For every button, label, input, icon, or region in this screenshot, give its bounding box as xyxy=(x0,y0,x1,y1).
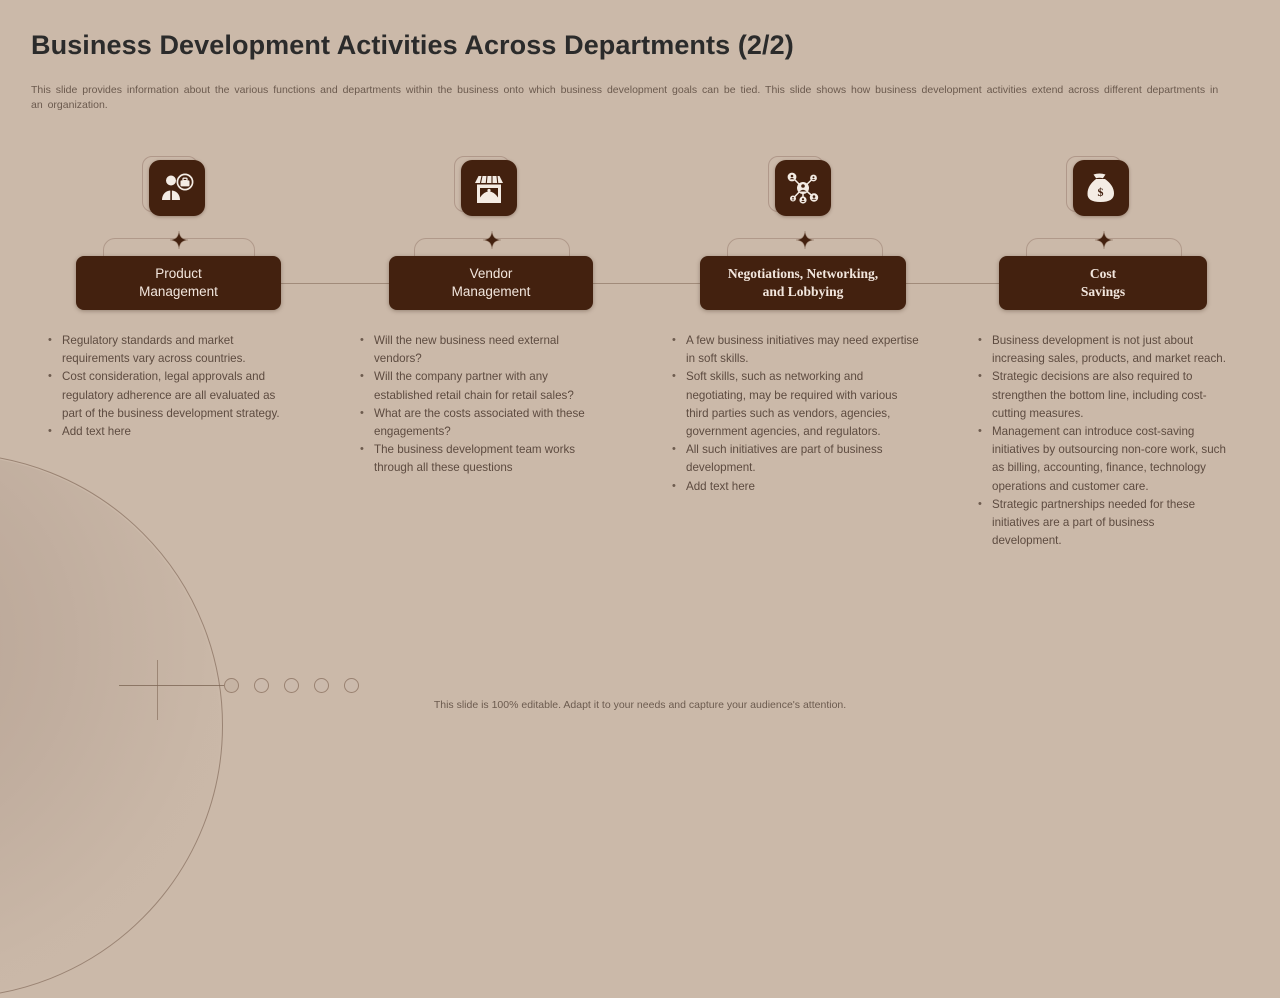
bullet-item: Regulatory standards and market requirem… xyxy=(46,332,286,368)
pagination-leader-line xyxy=(119,685,224,686)
page-subtitle: This slide provides information about th… xyxy=(31,83,1226,113)
diamond-marker-0 xyxy=(170,231,188,249)
department-title-line1-1: Vendor xyxy=(452,265,531,283)
department-title-2[interactable]: Negotiations, Networking,and Lobbying xyxy=(700,256,906,310)
department-title-line2-0: Management xyxy=(139,283,218,301)
department-icon-3[interactable]: $ xyxy=(1073,160,1129,216)
department-title-1[interactable]: VendorManagement xyxy=(389,256,593,310)
department-icon-0[interactable] xyxy=(149,160,205,216)
department-title-line1-0: Product xyxy=(139,265,218,283)
bullet-item: The business development team works thro… xyxy=(358,441,598,477)
page-title: Business Development Activities Across D… xyxy=(31,30,794,61)
corner-arc-vertical-line xyxy=(157,660,158,720)
department-icon-2[interactable] xyxy=(775,160,831,216)
department-title-0[interactable]: ProductManagement xyxy=(76,256,281,310)
department-title-3[interactable]: CostSavings xyxy=(999,256,1207,310)
bullet-item: Strategic decisions are also required to… xyxy=(976,368,1226,423)
department-bullets-2: A few business initiatives may need expe… xyxy=(670,332,920,496)
bullet-item: A few business initiatives may need expe… xyxy=(670,332,920,368)
bullet-item: What are the costs associated with these… xyxy=(358,405,598,441)
department-title-line1-2: Negotiations, Networking, xyxy=(728,265,878,283)
diamond-marker-1 xyxy=(483,231,501,249)
corner-arc-outline xyxy=(0,453,223,998)
bullet-item: Soft skills, such as networking and nego… xyxy=(670,368,920,441)
bullet-item: Add text here xyxy=(670,478,920,496)
diamond-marker-2 xyxy=(796,231,814,249)
department-title-line2-1: Management xyxy=(452,283,531,301)
department-icon-1[interactable] xyxy=(461,160,517,216)
money-bag-growth-icon: $ xyxy=(1084,172,1118,204)
department-title-line2-2: and Lobbying xyxy=(728,283,878,301)
diamond-marker-3 xyxy=(1095,231,1113,249)
pagination-dot-0[interactable] xyxy=(224,678,239,693)
pagination-dot-3[interactable] xyxy=(314,678,329,693)
bullet-item: Will the company partner with any establ… xyxy=(358,368,598,404)
department-bullets-0: Regulatory standards and market requirem… xyxy=(46,332,286,441)
department-bullets-1: Will the new business need external vend… xyxy=(358,332,598,478)
bullet-item: Add text here xyxy=(46,423,286,441)
department-title-line2-3: Savings xyxy=(1081,283,1125,301)
person-briefcase-icon xyxy=(160,173,194,203)
corner-arc-fill xyxy=(0,455,220,995)
bullet-item: Strategic partnerships needed for these … xyxy=(976,496,1226,551)
footer-note: This slide is 100% editable. Adapt it to… xyxy=(0,699,1280,711)
bullet-item: Business development is not just about i… xyxy=(976,332,1226,368)
pagination-dot-1[interactable] xyxy=(254,678,269,693)
department-bullets-3: Business development is not just about i… xyxy=(976,332,1226,550)
pagination-dot-2[interactable] xyxy=(284,678,299,693)
bullet-item: Management can introduce cost-saving ini… xyxy=(976,423,1226,496)
pagination-dot-4[interactable] xyxy=(344,678,359,693)
network-people-icon xyxy=(786,171,820,205)
svg-text:$: $ xyxy=(1098,185,1104,199)
bullet-item: Cost consideration, legal approvals and … xyxy=(46,368,286,423)
department-title-line1-3: Cost xyxy=(1081,265,1125,283)
bullet-item: Will the new business need external vend… xyxy=(358,332,598,368)
storefront-icon xyxy=(472,173,506,204)
bullet-item: All such initiatives are part of busines… xyxy=(670,441,920,477)
